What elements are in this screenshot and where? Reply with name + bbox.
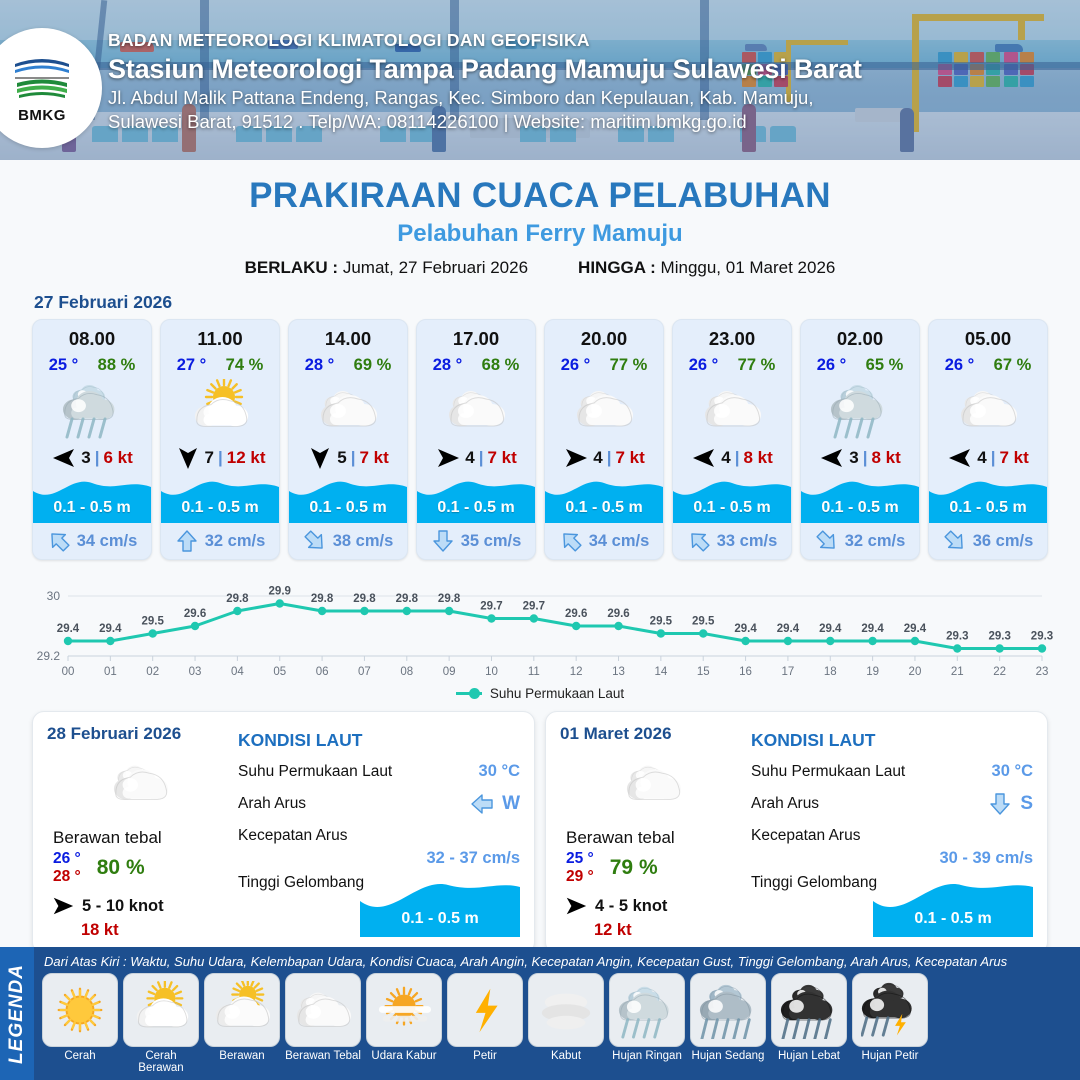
validity-row: BERLAKU : Jumat, 27 Februari 2026 HINGGA… (0, 258, 1080, 278)
forecast-card[interactable]: 08.00 25 ° 88 % 3 | (32, 319, 152, 560)
wind-direction-arrow-icon (435, 445, 461, 471)
legend-item: Kabut (528, 973, 604, 1074)
legend-item: Cerah (42, 973, 118, 1074)
current-speed: 35 cm/s (461, 532, 522, 551)
weather-condition-icon (33, 377, 151, 441)
wave-height-value: 0.1 - 0.5 m (417, 499, 535, 517)
legend-icon-tile (285, 973, 361, 1047)
forecast-time: 08.00 (33, 320, 151, 350)
svg-text:29.5: 29.5 (142, 616, 165, 628)
forecast-card[interactable]: 11.00 27 ° 74 % 7 | 12 kt 0. (160, 319, 280, 560)
svg-text:29.6: 29.6 (607, 608, 629, 620)
forecast-time: 14.00 (289, 320, 407, 350)
svg-text:20: 20 (909, 666, 922, 678)
legend-item: Udara Kabur (366, 973, 442, 1074)
svg-text:29.6: 29.6 (184, 608, 206, 620)
air-temperature: 28 ° (305, 356, 335, 375)
summary-condition: Berawan tebal (53, 828, 232, 848)
current-speed-block: Kecepatan Arus 30 - 39 cm/s (751, 827, 1033, 868)
address-line-2: Sulawesi Barat, 91512 . Telp/WA: 0811422… (108, 111, 862, 133)
svg-text:23: 23 (1036, 666, 1049, 678)
humidity: 88 % (98, 356, 136, 375)
svg-text:06: 06 (316, 666, 329, 678)
current-direction-value: S (1020, 793, 1033, 815)
summary-left-column: 01 Maret 2026 Berawan tebal 25 ° 29 ° (560, 724, 745, 939)
svg-text:29.4: 29.4 (904, 623, 927, 635)
temp-humidity-row: 25 ° 88 % (33, 356, 151, 375)
current-row: 35 cm/s (417, 523, 535, 559)
svg-text:17: 17 (782, 666, 795, 678)
legend-item: Petir (447, 973, 523, 1074)
svg-text:29.4: 29.4 (861, 623, 884, 635)
summary-gust: 12 kt (594, 921, 745, 940)
address-line-1: Jl. Abdul Malik Pattana Endeng, Rangas, … (108, 87, 862, 109)
wind-row: 5 | 7 kt (289, 441, 407, 475)
wave-height-band: 0.1 - 0.5 m (545, 475, 663, 523)
summary-wind-arrow-icon (51, 894, 75, 918)
legend-item-label: Berawan Tebal (285, 1050, 361, 1062)
svg-text:29.8: 29.8 (311, 593, 334, 605)
summary-temperature-block: 25 ° 29 ° 79 % (566, 850, 745, 886)
legend-label: Suhu Permukaan Laut (490, 686, 624, 701)
legend-item-label: Hujan Ringan (609, 1050, 685, 1062)
svg-text:29.5: 29.5 (692, 616, 715, 628)
legend-icon-tile (447, 973, 523, 1047)
forecast-time: 02.00 (801, 320, 919, 350)
summary-sea-column: KONDISI LAUT Suhu Permukaan Laut 30 °C A… (745, 724, 1033, 939)
svg-text:07: 07 (358, 666, 371, 678)
forecast-time: 11.00 (161, 320, 279, 350)
current-row: 34 cm/s (545, 523, 663, 559)
svg-text:29.5: 29.5 (650, 616, 673, 628)
current-speed: 33 cm/s (717, 532, 778, 551)
humidity: 77 % (610, 356, 648, 375)
current-speed: 34 cm/s (589, 532, 650, 551)
summary-date: 01 Maret 2026 (560, 724, 745, 744)
legend-side-tab: LEGENDA (0, 947, 34, 1080)
svg-text:21: 21 (951, 666, 964, 678)
forecast-card-row: 08.00 25 ° 88 % 3 | (0, 319, 1080, 560)
current-direction-label: Arah Arus (238, 795, 306, 813)
legend-icon-tile (852, 973, 928, 1047)
svg-text:19: 19 (866, 666, 879, 678)
weather-condition-icon (801, 377, 919, 441)
legend-icon-tile (366, 973, 442, 1047)
wind-separator: | (735, 448, 740, 468)
wind-direction-arrow-icon (175, 445, 201, 471)
temp-humidity-row: 28 ° 68 % (417, 356, 535, 375)
svg-text:29.3: 29.3 (988, 631, 1010, 643)
weather-condition-icon (545, 377, 663, 441)
svg-text:02: 02 (146, 666, 159, 678)
summary-wind-row: 4 - 5 knot (564, 894, 745, 918)
page-title: PRAKIRAAN CUACA PELABUHAN (0, 176, 1080, 216)
legend-note: Dari Atas Kiri : Waktu, Suhu Udara, Kele… (42, 951, 1074, 971)
air-temperature: 28 ° (433, 356, 463, 375)
wave-height-value: 0.1 - 0.5 m (161, 499, 279, 517)
legend-icon-tile (528, 973, 604, 1047)
infographic-page: BMKG BADAN METEOROLOGI KLIMATOLOGI DAN G… (0, 0, 1080, 1080)
current-speed: 32 cm/s (845, 532, 906, 551)
current-direction-arrow-icon (687, 529, 711, 553)
wind-speed: 7 kt (615, 448, 644, 468)
wind-direction-arrow-icon (307, 445, 333, 471)
summary-wind-row: 5 - 10 knot (51, 894, 232, 918)
weather-condition-icon (417, 377, 535, 441)
summary-wave-value: 0.1 - 0.5 m (873, 910, 1033, 928)
wind-direction-value: 3 (849, 448, 858, 468)
svg-text:29.3: 29.3 (946, 631, 968, 643)
forecast-card[interactable]: 23.00 26 ° 77 % 4 | (672, 319, 792, 560)
forecast-time: 05.00 (929, 320, 1047, 350)
air-temperature: 26 ° (689, 356, 719, 375)
current-direction-arrow-icon (815, 529, 839, 553)
legend-item-label: Hujan Lebat (771, 1050, 847, 1062)
svg-text:00: 00 (62, 666, 75, 678)
summary-wind-arrow-icon (564, 894, 588, 918)
legend-icon-tile (609, 973, 685, 1047)
wind-row: 4 | 8 kt (673, 441, 791, 475)
legend-item-label: Cerah (42, 1050, 118, 1062)
agency-name: BADAN METEOROLOGI KLIMATOLOGI DAN GEOFIS… (108, 30, 862, 51)
svg-text:08: 08 (400, 666, 413, 678)
wind-direction-arrow-icon (819, 445, 845, 471)
svg-text:29.4: 29.4 (57, 623, 80, 635)
summary-temp-max: 29 ° (566, 868, 594, 886)
wind-direction-arrow-icon (563, 445, 589, 471)
summary-wave-graphic: 0.1 - 0.5 m (360, 875, 520, 937)
legend-item: Berawan Tebal (285, 973, 361, 1074)
current-speed-label: Kecepatan Arus (238, 827, 520, 845)
summary-weather-icon (47, 754, 232, 812)
humidity: 74 % (226, 356, 264, 375)
svg-text:29.8: 29.8 (226, 593, 249, 605)
wave-height-band: 0.1 - 0.5 m (673, 475, 791, 523)
legend-item: Hujan Lebat (771, 973, 847, 1074)
svg-text:29.9: 29.9 (269, 586, 291, 598)
wind-row: 4 | 7 kt (929, 441, 1047, 475)
legend-item: Berawan (204, 973, 280, 1074)
legend-icon-tile (42, 973, 118, 1047)
wind-direction-value: 4 (593, 448, 602, 468)
wind-direction-value: 3 (81, 448, 90, 468)
summary-left-column: 28 Februari 2026 Berawan tebal 26 ° 28 ° (47, 724, 232, 939)
wind-speed: 8 kt (871, 448, 900, 468)
summary-temperature-block: 26 ° 28 ° 80 % (53, 850, 232, 886)
wind-speed: 7 kt (359, 448, 388, 468)
current-row: 36 cm/s (929, 523, 1047, 559)
forecast-card[interactable]: 05.00 26 ° 67 % 4 | (928, 319, 1048, 560)
sst-value: 30 °C (992, 762, 1033, 781)
wind-speed: 7 kt (999, 448, 1028, 468)
humidity: 68 % (482, 356, 520, 375)
current-row: 32 cm/s (801, 523, 919, 559)
forecast-time: 23.00 (673, 320, 791, 350)
legend-item-label: Hujan Petir (852, 1050, 928, 1062)
svg-text:29.2: 29.2 (37, 649, 61, 663)
current-row: 32 cm/s (161, 523, 279, 559)
svg-text:15: 15 (697, 666, 710, 678)
forecast-card[interactable]: 14.00 28 ° 69 % 5 | (288, 319, 408, 560)
wave-height-value: 0.1 - 0.5 m (673, 499, 791, 517)
valid-to: HINGGA : Minggu, 01 Maret 2026 (578, 258, 835, 278)
current-speed-block: Kecepatan Arus 32 - 37 cm/s (238, 827, 520, 868)
temp-humidity-row: 26 ° 65 % (801, 356, 919, 375)
summary-sea-column: KONDISI LAUT Suhu Permukaan Laut 30 °C A… (232, 724, 520, 939)
sst-value: 30 °C (479, 762, 520, 781)
svg-text:29.8: 29.8 (353, 593, 376, 605)
svg-text:10: 10 (485, 666, 498, 678)
summary-wind-range: 4 - 5 knot (595, 897, 667, 916)
legend-side-label: LEGENDA (6, 964, 28, 1064)
wind-separator: | (607, 448, 612, 468)
daily-summary-panel[interactable]: 28 Februari 2026 Berawan tebal 26 ° 28 ° (32, 711, 535, 954)
humidity: 69 % (354, 356, 392, 375)
legend-item: Hujan Petir (852, 973, 928, 1074)
current-speed: 34 cm/s (77, 532, 138, 551)
wind-separator: | (218, 448, 223, 468)
header-banner: BMKG BADAN METEOROLOGI KLIMATOLOGI DAN G… (0, 0, 1080, 160)
legend-item-label: Berawan (204, 1050, 280, 1062)
wind-separator: | (479, 448, 484, 468)
daily-summary-panel[interactable]: 01 Maret 2026 Berawan tebal 25 ° 29 ° (545, 711, 1048, 954)
wind-direction-arrow-icon (51, 445, 77, 471)
svg-text:29.8: 29.8 (396, 593, 419, 605)
temp-humidity-row: 26 ° 67 % (929, 356, 1047, 375)
current-speed: 36 cm/s (973, 532, 1034, 551)
svg-text:29.4: 29.4 (819, 623, 842, 635)
station-name: Stasiun Meteorologi Tampa Padang Mamuju … (108, 54, 862, 85)
current-direction-arrow-icon (470, 792, 494, 816)
summary-wave-value: 0.1 - 0.5 m (360, 910, 520, 928)
svg-text:29.4: 29.4 (777, 623, 800, 635)
summary-temp-max: 28 ° (53, 868, 81, 886)
current-speed-label: Kecepatan Arus (751, 827, 1033, 845)
sst-row: Suhu Permukaan Laut 30 °C (238, 762, 520, 781)
weather-condition-icon (289, 377, 407, 441)
wind-direction-arrow-icon (947, 445, 973, 471)
wave-height-value: 0.1 - 0.5 m (801, 499, 919, 517)
wind-direction-value: 4 (465, 448, 474, 468)
wave-height-band: 0.1 - 0.5 m (289, 475, 407, 523)
legend-body: Dari Atas Kiri : Waktu, Suhu Udara, Kele… (34, 947, 1080, 1080)
current-direction-value-box: W (470, 792, 520, 816)
current-speed: 32 cm/s (205, 532, 266, 551)
current-direction-arrow-icon (175, 529, 199, 553)
wind-separator: | (95, 448, 100, 468)
current-speed-value: 30 - 39 cm/s (751, 849, 1033, 868)
forecast-time: 17.00 (417, 320, 535, 350)
wave-height-band: 0.1 - 0.5 m (929, 475, 1047, 523)
air-temperature: 25 ° (49, 356, 79, 375)
sea-conditions-title: KONDISI LAUT (751, 730, 1033, 751)
air-temperature: 26 ° (561, 356, 591, 375)
legend-item-label: Petir (447, 1050, 523, 1062)
legend-item-label: Cerah Berawan (123, 1050, 199, 1074)
summary-condition: Berawan tebal (566, 828, 745, 848)
wind-row: 4 | 7 kt (417, 441, 535, 475)
legend-icon-tile (771, 973, 847, 1047)
svg-text:03: 03 (189, 666, 202, 678)
svg-text:18: 18 (824, 666, 837, 678)
chart-legend: Suhu Permukaan Laut (0, 686, 1080, 701)
wind-separator: | (863, 448, 868, 468)
air-temperature: 27 ° (177, 356, 207, 375)
current-direction-label: Arah Arus (751, 795, 819, 813)
sst-label: Suhu Permukaan Laut (238, 763, 392, 781)
svg-text:13: 13 (612, 666, 625, 678)
legend-footer: LEGENDA Dari Atas Kiri : Waktu, Suhu Uda… (0, 947, 1080, 1080)
temp-humidity-row: 26 ° 77 % (673, 356, 791, 375)
wave-height-value: 0.1 - 0.5 m (33, 499, 151, 517)
wind-separator: | (351, 448, 356, 468)
summary-wind-range: 5 - 10 knot (82, 897, 164, 916)
current-direction-row: Arah Arus W (238, 792, 520, 816)
temp-humidity-row: 26 ° 77 % (545, 356, 663, 375)
legend-item-label: Udara Kabur (366, 1050, 442, 1062)
summary-gust: 18 kt (81, 921, 232, 940)
wind-direction-value: 5 (337, 448, 346, 468)
wind-speed: 6 kt (103, 448, 132, 468)
svg-text:29.8: 29.8 (438, 593, 461, 605)
legend-item: Hujan Ringan (609, 973, 685, 1074)
wind-row: 4 | 7 kt (545, 441, 663, 475)
forecast-card[interactable]: 20.00 26 ° 77 % 4 | (544, 319, 664, 560)
legend-item-row: Cerah Cerah Berawan Berawan (42, 973, 1074, 1074)
valid-from-value: Jumat, 27 Februari 2026 (343, 258, 528, 277)
current-row: 33 cm/s (673, 523, 791, 559)
svg-text:09: 09 (443, 666, 456, 678)
svg-text:12: 12 (570, 666, 583, 678)
legend-icon-tile (123, 973, 199, 1047)
legend-item: Hujan Sedang (690, 973, 766, 1074)
page-subtitle: Pelabuhan Ferry Mamuju (0, 220, 1080, 248)
svg-text:14: 14 (654, 666, 667, 678)
svg-text:04: 04 (231, 666, 244, 678)
temp-humidity-row: 28 ° 69 % (289, 356, 407, 375)
summary-date: 28 Februari 2026 (47, 724, 232, 744)
current-direction-arrow-icon (943, 529, 967, 553)
wind-row: 3 | 8 kt (801, 441, 919, 475)
current-direction-value: W (502, 793, 520, 815)
wind-speed: 7 kt (487, 448, 516, 468)
wave-height-band: 0.1 - 0.5 m (161, 475, 279, 523)
current-direction-arrow-icon (47, 529, 71, 553)
forecast-time: 20.00 (545, 320, 663, 350)
valid-to-value: Minggu, 01 Maret 2026 (661, 258, 836, 277)
temp-humidity-row: 27 ° 74 % (161, 356, 279, 375)
valid-from-label: BERLAKU : (245, 258, 339, 277)
svg-text:22: 22 (993, 666, 1006, 678)
wave-height-value: 0.1 - 0.5 m (289, 499, 407, 517)
legend-icon-tile (204, 973, 280, 1047)
humidity: 67 % (994, 356, 1032, 375)
svg-text:30: 30 (47, 589, 61, 603)
sst-label: Suhu Permukaan Laut (751, 763, 905, 781)
humidity: 65 % (866, 356, 904, 375)
weather-condition-icon (161, 377, 279, 441)
summary-weather-icon (560, 754, 745, 812)
wind-direction-value: 4 (977, 448, 986, 468)
air-temperature: 26 ° (945, 356, 975, 375)
svg-text:29.4: 29.4 (734, 623, 757, 635)
weather-condition-icon (673, 377, 791, 441)
current-row: 34 cm/s (33, 523, 151, 559)
summary-wave-graphic: 0.1 - 0.5 m (873, 875, 1033, 937)
current-speed: 38 cm/s (333, 532, 394, 551)
wind-speed: 12 kt (227, 448, 266, 468)
summary-temp-min: 25 ° (566, 850, 594, 868)
wave-height-band: 0.1 - 0.5 m (417, 475, 535, 523)
forecast-date-label: 27 Februari 2026 (34, 292, 1080, 313)
wind-separator: | (991, 448, 996, 468)
header-text-block: BADAN METEOROLOGI KLIMATOLOGI DAN GEOFIS… (108, 30, 862, 133)
legend-item-label: Kabut (528, 1050, 604, 1062)
sea-conditions-title: KONDISI LAUT (238, 730, 520, 751)
wind-row: 3 | 6 kt (33, 441, 151, 475)
wind-row: 7 | 12 kt (161, 441, 279, 475)
valid-to-label: HINGGA : (578, 258, 656, 277)
sst-chart-svg: 29.2300001020304050607080910111213141516… (26, 572, 1054, 682)
forecast-card[interactable]: 02.00 26 ° 65 % 3 | (800, 319, 920, 560)
current-direction-arrow-icon (431, 529, 455, 553)
wave-height-value: 0.1 - 0.5 m (929, 499, 1047, 517)
legend-line-swatch (456, 692, 482, 695)
humidity: 77 % (738, 356, 776, 375)
bmkg-logo-mark (11, 52, 73, 106)
wind-direction-value: 7 (205, 448, 214, 468)
wind-direction-value: 4 (721, 448, 730, 468)
wind-direction-arrow-icon (691, 445, 717, 471)
current-direction-arrow-icon (559, 529, 583, 553)
air-temperature: 26 ° (817, 356, 847, 375)
current-direction-arrow-icon (303, 529, 327, 553)
legend-icon-tile (690, 973, 766, 1047)
current-direction-arrow-icon (988, 792, 1012, 816)
wind-speed: 8 kt (743, 448, 772, 468)
svg-text:05: 05 (273, 666, 286, 678)
legend-item: Cerah Berawan (123, 973, 199, 1074)
daily-summary-row: 28 Februari 2026 Berawan tebal 26 ° 28 ° (0, 701, 1080, 954)
sst-row: Suhu Permukaan Laut 30 °C (751, 762, 1033, 781)
summary-humidity: 80 % (97, 856, 145, 880)
svg-text:29.7: 29.7 (523, 601, 545, 613)
svg-text:29.3: 29.3 (1031, 631, 1053, 643)
legend-item-label: Hujan Sedang (690, 1050, 766, 1062)
wave-height-value: 0.1 - 0.5 m (545, 499, 663, 517)
current-direction-row: Arah Arus S (751, 792, 1033, 816)
weather-condition-icon (929, 377, 1047, 441)
sst-chart: 29.2300001020304050607080910111213141516… (26, 572, 1054, 682)
wave-height-band: 0.1 - 0.5 m (33, 475, 151, 523)
current-direction-value-box: S (988, 792, 1033, 816)
svg-text:11: 11 (528, 666, 540, 678)
current-row: 38 cm/s (289, 523, 407, 559)
svg-text:01: 01 (104, 666, 117, 678)
svg-text:29.4: 29.4 (99, 623, 122, 635)
forecast-card[interactable]: 17.00 28 ° 68 % 4 | (416, 319, 536, 560)
summary-temp-min: 26 ° (53, 850, 81, 868)
svg-text:29.7: 29.7 (480, 601, 502, 613)
current-speed-value: 32 - 37 cm/s (238, 849, 520, 868)
svg-text:29.6: 29.6 (565, 608, 587, 620)
bmkg-logo-text: BMKG (18, 107, 66, 124)
valid-from: BERLAKU : Jumat, 27 Februari 2026 (245, 258, 528, 278)
svg-text:16: 16 (739, 666, 752, 678)
summary-humidity: 79 % (610, 856, 658, 880)
wave-height-band: 0.1 - 0.5 m (801, 475, 919, 523)
